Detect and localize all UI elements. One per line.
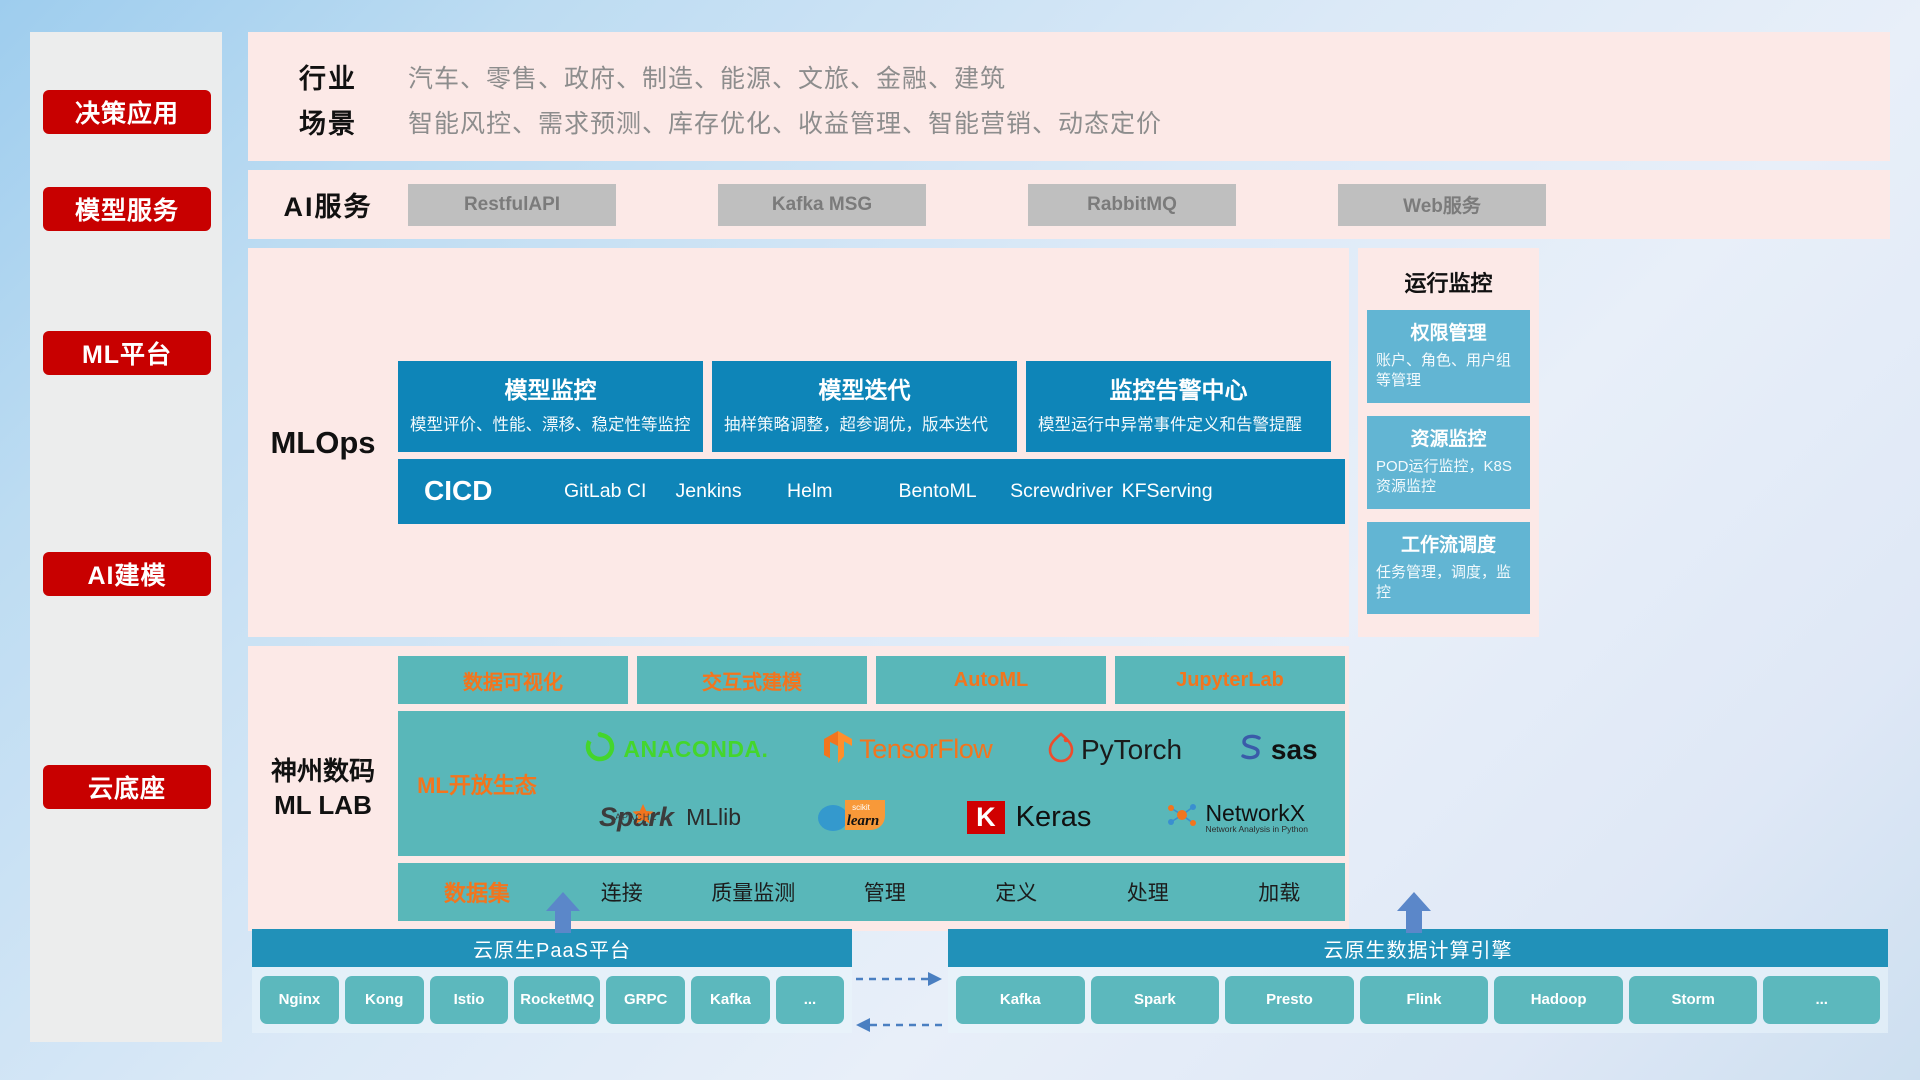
- rail-item-label: 决策应用: [75, 94, 179, 130]
- mlops-label: MLOps: [248, 425, 398, 461]
- runtime-monitor-header: 运行监控: [1367, 258, 1530, 310]
- mlops-band: MLOps 模型监控 模型评价、性能、漂移、稳定性等监控 模型迭代 抽样策略调整…: [248, 248, 1349, 637]
- engine-chip-spark[interactable]: Spark: [1091, 976, 1220, 1024]
- engine-chip-hadoop[interactable]: Hadoop: [1494, 976, 1623, 1024]
- monitor-card-workflow[interactable]: 工作流调度 任务管理，调度，监控: [1367, 522, 1530, 615]
- rail-item-ml-platform[interactable]: ML平台: [43, 331, 211, 375]
- scenario-label: 场景: [248, 102, 408, 141]
- pytorch-logo[interactable]: PyTorch: [1047, 731, 1182, 768]
- monitor-card-resource[interactable]: 资源监控 POD运行监控，K8S资源监控: [1367, 416, 1530, 509]
- ml-ecosystem-row: ML开放生态 ANACONDA.: [398, 711, 1345, 856]
- mlops-card-alert-center[interactable]: 监控告警中心 模型运行中异常事件定义和告警提醒: [1026, 361, 1331, 451]
- sas-logo[interactable]: sas: [1237, 732, 1318, 767]
- mlops-card-title: 模型迭代: [724, 371, 1005, 405]
- bidirectional-connector: [856, 963, 942, 1039]
- cicd-item-jenkins[interactable]: Jenkins: [676, 479, 788, 503]
- pytorch-label: PyTorch: [1081, 734, 1182, 766]
- sas-label: sas: [1271, 734, 1318, 766]
- ml-lab-band: 神州数码 ML LAB 数据可视化 交互式建模 AutoML JupyterLa…: [248, 646, 1349, 931]
- ml-ecosystem-label: ML开放生态: [398, 768, 556, 800]
- ml-lab-label: 神州数码 ML LAB: [248, 755, 398, 823]
- rail-item-label: ML平台: [82, 335, 172, 371]
- keras-logo[interactable]: K Keras: [967, 801, 1091, 834]
- cloud-base-section: 云原生PaaS平台 Nginx Kong Istio RocketMQ GRPC…: [248, 895, 1890, 1045]
- scenario-row: 场景 智能风控、需求预测、库存优化、收益管理、智能营销、动态定价: [248, 99, 1890, 144]
- ai-service-band: AI服务 RestfulAPI Kafka MSG RabbitMQ Web服务: [248, 170, 1890, 239]
- networkx-tagline: Network Analysis in Python: [1205, 825, 1308, 834]
- mllib-label: MLlib: [686, 804, 741, 831]
- cicd-item-screwdriver[interactable]: Screwdriver: [1010, 479, 1122, 503]
- engine-up-arrow-icon: [1393, 891, 1435, 938]
- mlops-card-list: 模型监控 模型评价、性能、漂移、稳定性等监控 模型迭代 抽样策略调整，超参调优，…: [398, 361, 1345, 451]
- monitor-card-title: 权限管理: [1376, 318, 1521, 345]
- tensorflow-label: TensorFlow: [859, 734, 992, 765]
- industry-scenario-band: 行业 汽车、零售、政府、制造、能源、文旅、金融、建筑 场景 智能风控、需求预测、…: [248, 32, 1890, 161]
- ai-service-button-restfulapi[interactable]: RestfulAPI: [408, 184, 616, 226]
- cicd-item-gitlab-ci[interactable]: GitLab CI: [564, 479, 676, 503]
- monitor-card-title: 工作流调度: [1376, 530, 1521, 557]
- cicd-item-helm[interactable]: Helm: [787, 479, 899, 503]
- mlops-card-model-iteration[interactable]: 模型迭代 抽样策略调整，超参调优，版本迭代: [712, 361, 1017, 451]
- networkx-label: NetworkX: [1205, 801, 1308, 825]
- paas-chip-nginx[interactable]: Nginx: [260, 976, 339, 1024]
- rail-item-label: 云底座: [88, 769, 166, 805]
- industry-label: 行业: [248, 57, 408, 96]
- engine-chip-presto[interactable]: Presto: [1225, 976, 1354, 1024]
- pytorch-icon: [1047, 731, 1075, 768]
- mlops-card-title: 监控告警中心: [1038, 371, 1319, 405]
- paas-platform-group: 云原生PaaS平台 Nginx Kong Istio RocketMQ GRPC…: [252, 929, 852, 1033]
- rail-item-model-service[interactable]: 模型服务: [43, 187, 211, 231]
- paas-chip-rocketmq[interactable]: RocketMQ: [514, 976, 600, 1024]
- spark-mllib-logo[interactable]: APACHE Spark MLlib: [593, 802, 741, 833]
- paas-up-arrow-icon: [542, 891, 584, 938]
- scenario-value: 智能风控、需求预测、库存优化、收益管理、智能营销、动态定价: [408, 104, 1162, 140]
- monitor-card-title: 资源监控: [1376, 424, 1521, 451]
- data-compute-engine-group: 云原生数据计算引擎 Kafka Spark Presto Flink Hadoo…: [948, 929, 1888, 1033]
- sas-icon: [1237, 732, 1265, 767]
- ml-lab-label-line1: 神州数码: [248, 755, 398, 789]
- anaconda-icon: [583, 730, 617, 769]
- industry-row: 行业 汽车、零售、政府、制造、能源、文旅、金融、建筑: [248, 54, 1890, 99]
- svg-text:learn: learn: [847, 813, 880, 829]
- cicd-bar: CICD GitLab CI Jenkins Helm BentoML Scre…: [398, 459, 1345, 524]
- monitor-card-permission[interactable]: 权限管理 账户、角色、用户组等管理: [1367, 310, 1530, 403]
- ai-service-button-kafka-msg[interactable]: Kafka MSG: [718, 184, 926, 226]
- tensorflow-logo[interactable]: TensorFlow: [823, 730, 992, 769]
- scikit-learn-icon: scikit learn: [815, 796, 893, 839]
- paas-chip-istio[interactable]: Istio: [430, 976, 509, 1024]
- ecosystem-logo-line-2: APACHE Spark MLlib scik: [556, 786, 1345, 850]
- tensorflow-icon: [823, 730, 853, 769]
- paas-chip-grpc[interactable]: GRPC: [606, 976, 685, 1024]
- cicd-item-kfserving[interactable]: KFServing: [1122, 479, 1234, 503]
- networkx-icon: [1165, 800, 1199, 835]
- tool-chip-automl[interactable]: AutoML: [876, 656, 1106, 704]
- mlops-card-desc: 模型运行中异常事件定义和告警提醒: [1038, 414, 1319, 437]
- ai-service-button-rabbitmq[interactable]: RabbitMQ: [1028, 184, 1236, 226]
- keras-label: Keras: [1016, 801, 1092, 834]
- monitor-card-desc: POD运行监控，K8S资源监控: [1376, 457, 1521, 498]
- mlops-card-title: 模型监控: [410, 371, 691, 405]
- rail-item-label: AI建模: [87, 556, 166, 592]
- monitor-card-desc: 账户、角色、用户组等管理: [1376, 351, 1521, 392]
- engine-chip-list: Kafka Spark Presto Flink Hadoop Storm ..…: [948, 967, 1888, 1033]
- monitor-card-desc: 任务管理，调度，监控: [1376, 563, 1521, 604]
- runtime-monitor-column: 运行监控 权限管理 账户、角色、用户组等管理 资源监控 POD运行监控，K8S资…: [1358, 248, 1539, 637]
- tool-chip-data-visualization[interactable]: 数据可视化: [398, 656, 628, 704]
- ecosystem-logo-line-1: ANACONDA. TensorFlow: [556, 718, 1345, 782]
- lab-row-spacer: [1358, 646, 1539, 931]
- rail-item-ai-modeling[interactable]: AI建模: [43, 552, 211, 596]
- networkx-logo[interactable]: NetworkX Network Analysis in Python: [1165, 800, 1308, 835]
- engine-chip-more[interactable]: ...: [1763, 976, 1880, 1024]
- rail-item-cloud-base[interactable]: 云底座: [43, 765, 211, 809]
- spark-apache-label: APACHE: [615, 812, 657, 822]
- paas-chip-list: Nginx Kong Istio RocketMQ GRPC Kafka ...: [252, 967, 852, 1033]
- engine-chip-storm[interactable]: Storm: [1629, 976, 1758, 1024]
- scikit-learn-logo[interactable]: scikit learn: [815, 796, 893, 839]
- layer-rail: 决策应用 模型服务 ML平台 AI建模 云底座: [30, 32, 222, 1042]
- mlops-card-model-monitoring[interactable]: 模型监控 模型评价、性能、漂移、稳定性等监控: [398, 361, 703, 451]
- engine-chip-kafka[interactable]: Kafka: [956, 976, 1085, 1024]
- svg-text:scikit: scikit: [852, 803, 871, 812]
- ml-lab-tool-chips: 数据可视化 交互式建模 AutoML JupyterLab: [398, 656, 1345, 704]
- rail-item-label: 模型服务: [75, 191, 179, 227]
- ai-service-label: AI服务: [248, 185, 408, 224]
- cicd-item-bentoml[interactable]: BentoML: [899, 479, 1011, 503]
- industry-value: 汽车、零售、政府、制造、能源、文旅、金融、建筑: [408, 59, 1006, 95]
- rail-item-decision-app[interactable]: 决策应用: [43, 90, 211, 134]
- engine-chip-flink[interactable]: Flink: [1360, 976, 1489, 1024]
- paas-chip-kong[interactable]: Kong: [345, 976, 424, 1024]
- paas-chip-more[interactable]: ...: [776, 976, 844, 1024]
- tool-chip-interactive-modeling[interactable]: 交互式建模: [637, 656, 867, 704]
- keras-mark-icon: K: [967, 801, 1005, 834]
- paas-chip-kafka[interactable]: Kafka: [691, 976, 770, 1024]
- ml-lab-label-line2: ML LAB: [248, 789, 398, 823]
- ai-service-button-web-service[interactable]: Web服务: [1338, 184, 1546, 226]
- ai-service-buttons: RestfulAPI Kafka MSG RabbitMQ Web服务: [408, 184, 1546, 226]
- mlops-card-desc: 抽样策略调整，超参调优，版本迭代: [724, 414, 1005, 437]
- mlops-card-desc: 模型评价、性能、漂移、稳定性等监控: [410, 414, 691, 437]
- tool-chip-jupyterlab[interactable]: JupyterLab: [1115, 656, 1345, 704]
- anaconda-label: ANACONDA.: [623, 736, 768, 763]
- cicd-label: CICD: [424, 475, 564, 507]
- anaconda-logo[interactable]: ANACONDA.: [583, 730, 768, 769]
